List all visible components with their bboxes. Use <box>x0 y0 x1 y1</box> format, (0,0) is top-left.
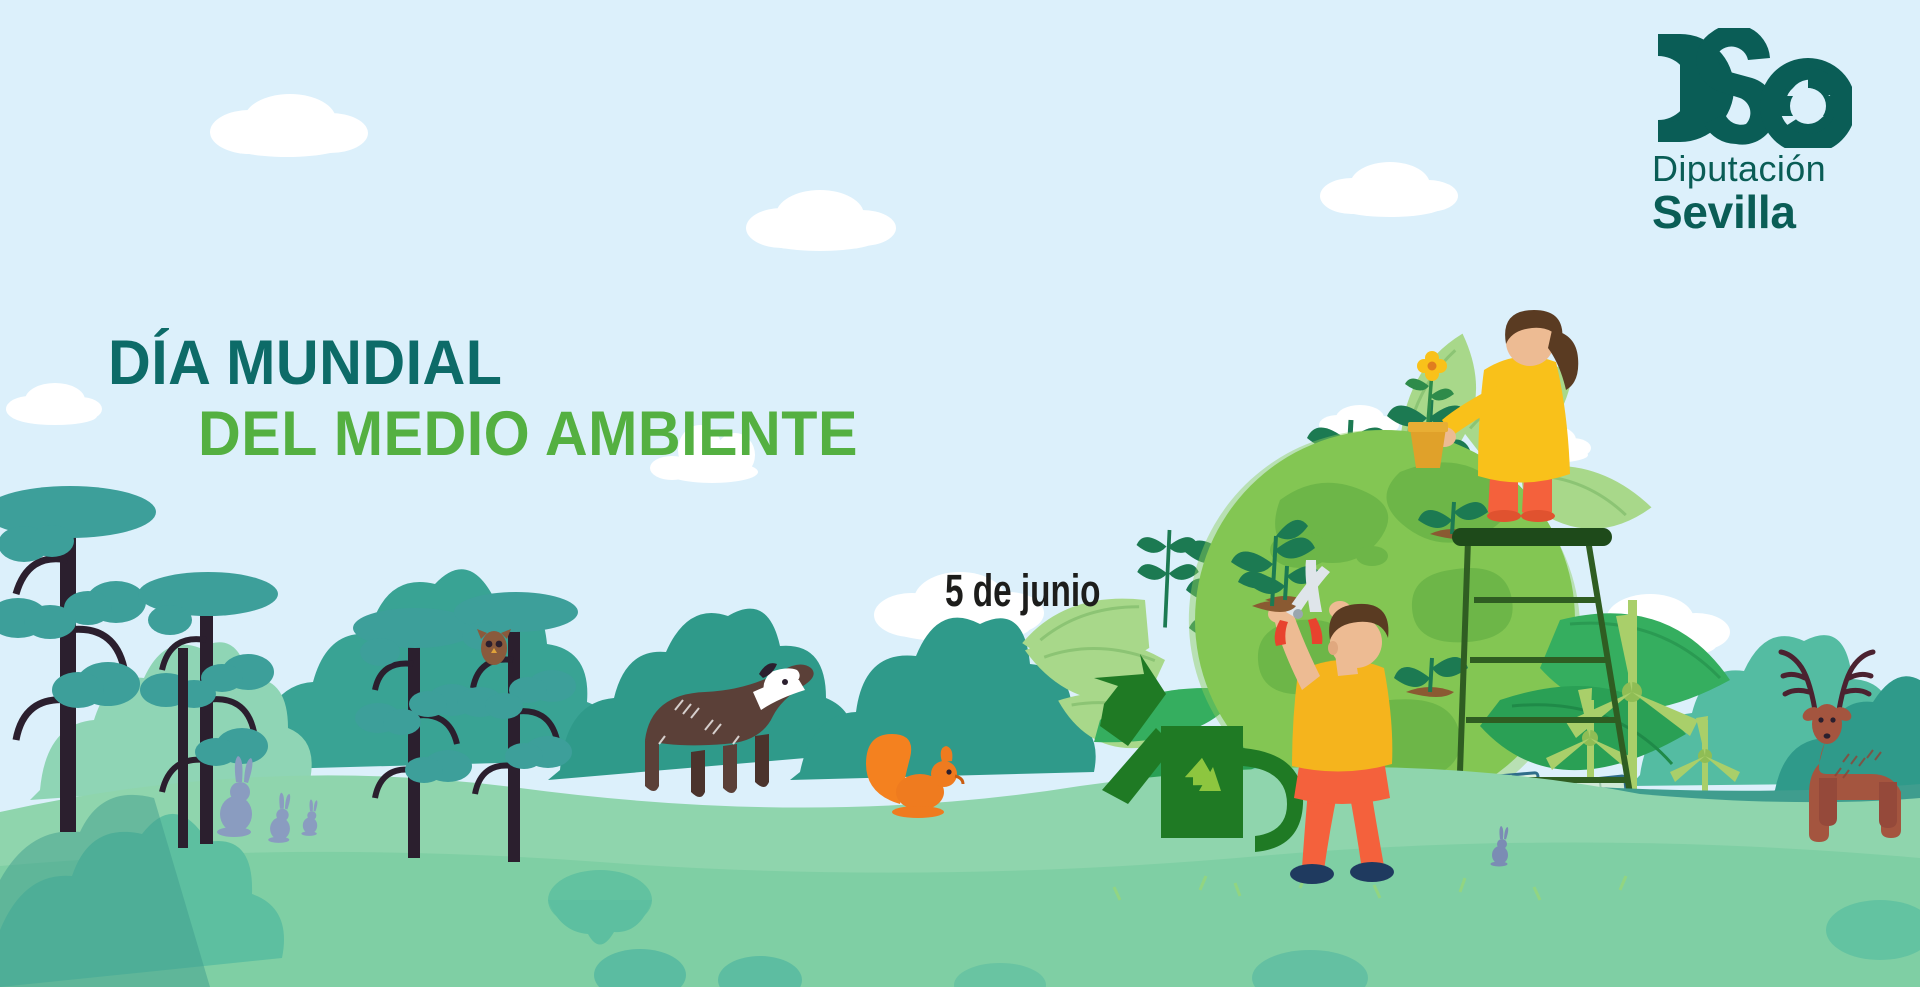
headline-line-2: DEL MEDIO AMBIENTE <box>198 403 858 466</box>
headline-date: 5 de junio <box>945 565 1100 617</box>
people-layer <box>0 0 1920 987</box>
headline-line-1: DÍA MUNDIAL <box>108 332 853 395</box>
flower-icon <box>1417 351 1447 381</box>
flowerpot-icon <box>1405 351 1454 468</box>
diputacion-sevilla-logo[interactable]: Diputación Sevilla <box>1652 28 1870 236</box>
logo-line-sevilla: Sevilla <box>1652 188 1870 236</box>
logo-line-diputacion: Diputación <box>1652 150 1870 188</box>
man-pruning-icon <box>1231 520 1394 884</box>
poster-canvas: DÍA MUNDIAL DEL MEDIO AMBIENTE 5 de juni… <box>0 0 1920 987</box>
dse-monogram-icon <box>1652 28 1852 148</box>
woman-on-ladder-icon <box>1405 310 1578 522</box>
headline-block: DÍA MUNDIAL DEL MEDIO AMBIENTE <box>108 332 900 466</box>
